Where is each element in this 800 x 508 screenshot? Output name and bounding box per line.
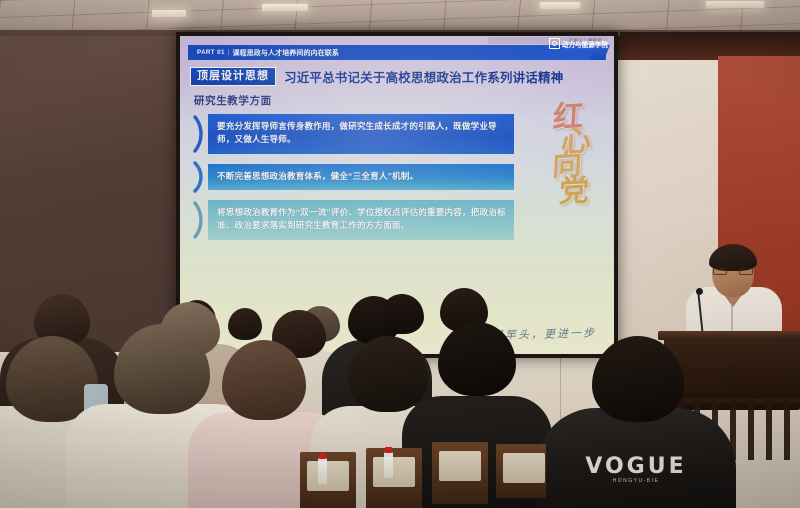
lecture-hall-scene: 汇报人：课程组 PART 01 | 课程思政与人才培养间的内在联系 动力与能源学… — [0, 0, 800, 508]
school-emblem-icon — [549, 38, 560, 49]
calligraphy-artwork: 红 心 向 党 — [540, 104, 602, 205]
ceiling-light — [262, 4, 308, 11]
audience-head — [592, 336, 684, 422]
slide-bullet-row: 不断完善思想政治教育体系，健全“三全育人”机制。 — [192, 164, 514, 190]
seating-row — [0, 438, 800, 508]
school-logo-text: 动力与能源学院 — [562, 39, 608, 49]
ceiling-light — [706, 1, 764, 8]
auditorium-chair — [496, 444, 546, 498]
school-logo: 动力与能源学院 — [549, 36, 608, 51]
slide-title-main: 习近平总书记关于高校思想政治工作系列讲话精神 — [284, 67, 563, 86]
slide-header-divider: | — [228, 49, 230, 56]
slide-part-label: PART 01 — [197, 49, 225, 56]
speaker-glasses — [713, 268, 753, 275]
calligraphy-char: 党 — [558, 177, 590, 206]
slide-bullet-list: 要充分发挥导师言传身教作用，做研究生成长成才的引路人，既做学业导师，又做人生导师… — [192, 114, 514, 250]
water-bottle — [318, 458, 327, 484]
water-bottle — [384, 452, 393, 478]
slide-title-tag: 顶层设计思想 — [190, 67, 276, 85]
auditorium-chair — [432, 442, 488, 504]
chevron-right-icon — [192, 200, 208, 240]
audience-head — [438, 322, 516, 396]
slide-section-heading: 研究生教学方面 — [194, 93, 272, 108]
slide-bullet-text: 不断完善思想政治教育体系，健全“三全育人”机制。 — [208, 164, 514, 190]
chair-pad — [307, 461, 349, 491]
auditorium-chair — [366, 448, 422, 508]
slide-header-bar: PART 01 | 课程思政与人才培养间的内在联系 — [188, 45, 606, 60]
chevron-right-icon — [192, 114, 208, 154]
chevron-right-icon — [192, 164, 208, 190]
chair-pad — [503, 453, 545, 483]
chair-pad — [373, 457, 415, 487]
slide-bullet-text: 要充分发挥导师言传身教作用，做研究生成长成才的引路人，既做学业导师，又做人生导师… — [208, 114, 514, 154]
ceiling-light — [540, 2, 580, 9]
ceiling-light — [152, 10, 186, 17]
audience: VOGUE HONGYU-BIE — [0, 288, 800, 508]
audience-head — [228, 308, 262, 340]
chair-pad — [439, 451, 481, 481]
slide-bullet-text: 将思想政治教育作为“双一流”评价、学位授权点评估的重要内容，把政治标准、政治要求… — [208, 200, 514, 240]
slide-bullet-row: 将思想政治教育作为“双一流”评价、学位授权点评估的重要内容，把政治标准、政治要求… — [192, 200, 514, 240]
auditorium-chair — [300, 452, 356, 508]
slide-title-row: 顶层设计思想 习近平总书记关于高校思想政治工作系列讲话精神 — [190, 67, 610, 86]
slide-bullet-row: 要充分发挥导师言传身教作用，做研究生成长成才的引路人，既做学业导师，又做人生导师… — [192, 114, 514, 154]
slide-header-subtitle: 课程思政与人才培养间的内在联系 — [233, 48, 340, 58]
